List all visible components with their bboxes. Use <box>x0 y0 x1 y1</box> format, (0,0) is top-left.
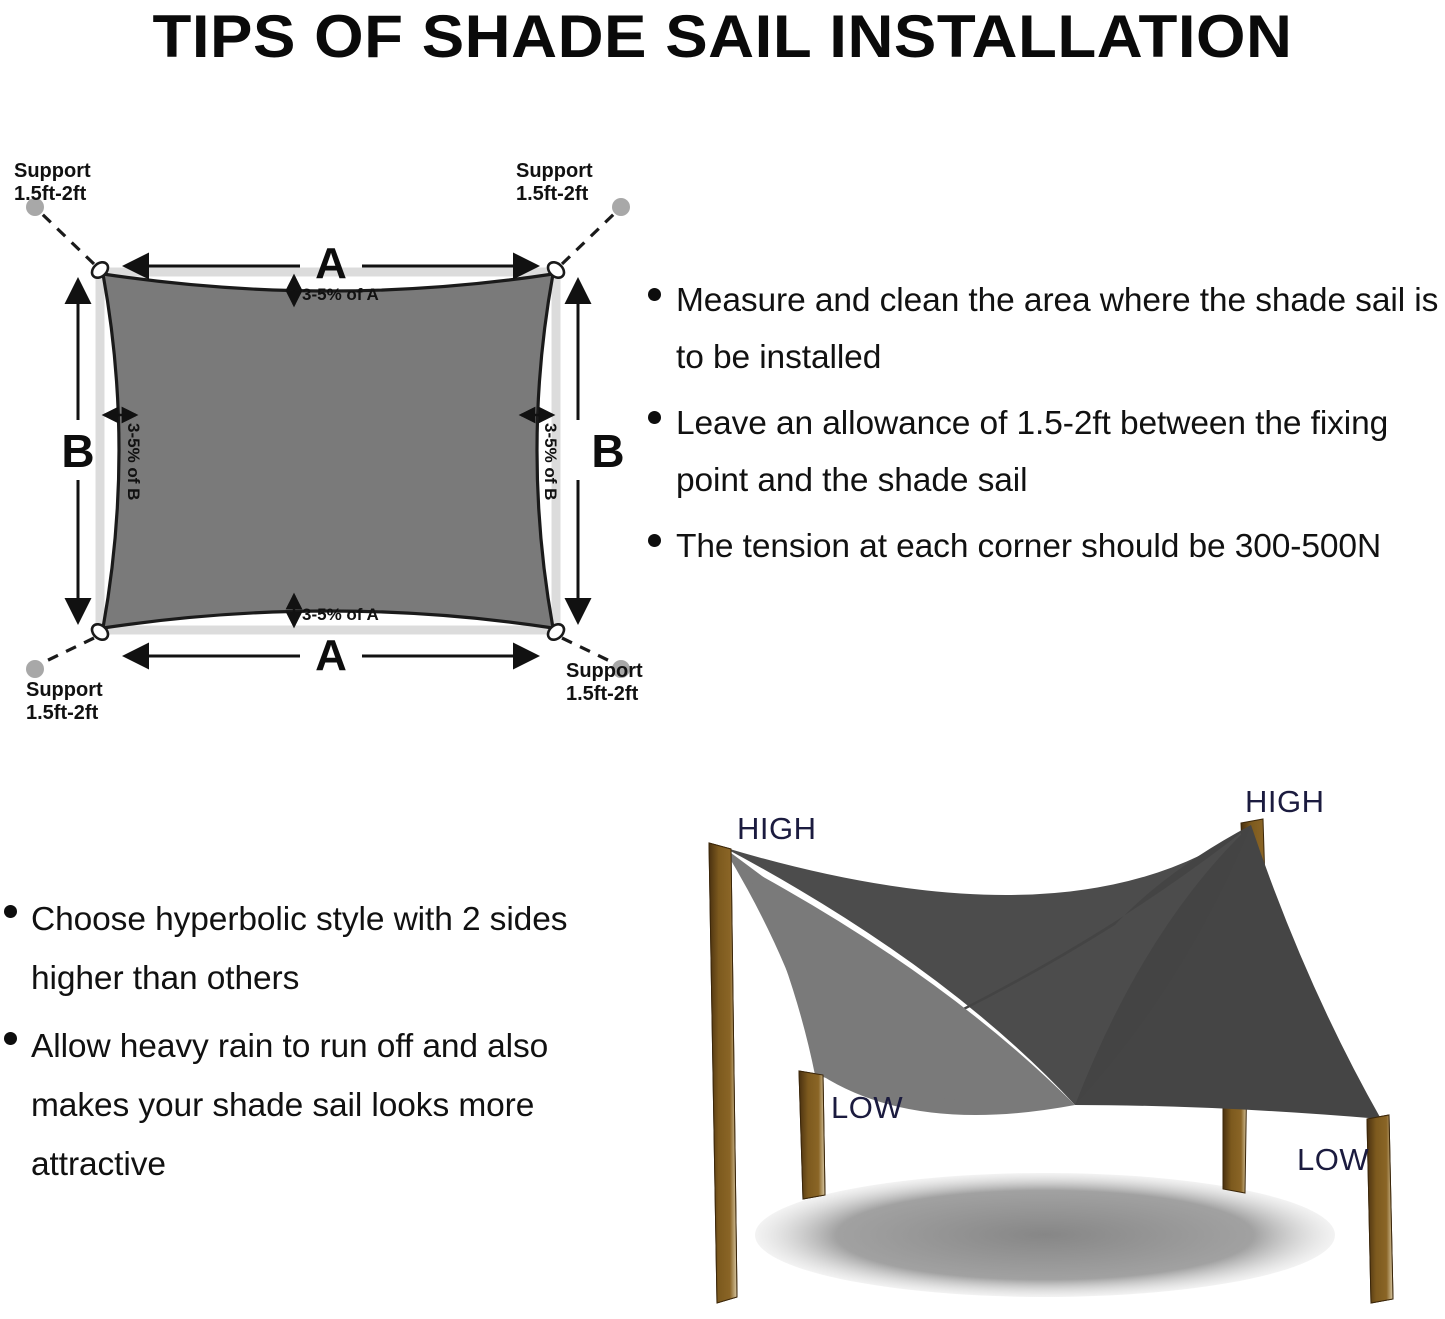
bullet-point-icon <box>648 288 661 301</box>
hyperbolic-sail-illustration: HIGH HIGH LOW LOW <box>645 775 1445 1319</box>
style-tip-text: Choose hyperbolic style with 2 sides hig… <box>31 890 624 1008</box>
page-title: TIPS OF SHADE SAIL INSTALLATION <box>0 2 1445 71</box>
label-low-right: LOW <box>1297 1142 1369 1178</box>
hyperbolic-style-tips-list: Choose hyperbolic style with 2 sides hig… <box>4 890 624 1203</box>
rectangular-sail-diagram: Support 1.5ft-2ft Support 1.5ft-2ft Supp… <box>0 150 660 750</box>
tip-item: The tension at each corner should be 300… <box>648 518 1445 575</box>
dimension-label-b-left: B <box>61 425 94 477</box>
label-high-left: HIGH <box>737 811 817 847</box>
dimension-a-top: A <box>125 239 537 288</box>
dimension-a-bottom: A <box>125 631 537 680</box>
tip-text: Leave an allowance of 1.5-2ft between th… <box>676 395 1445 509</box>
sail-body <box>103 274 553 628</box>
bullet-point-icon <box>4 905 17 918</box>
support-label-bottom-right-line2: 1.5ft-2ft <box>566 683 639 705</box>
dimension-label-b-right: B <box>591 425 624 477</box>
bullet-point-icon <box>4 1032 17 1045</box>
curve-label-bottom: 3-5% of A <box>302 605 379 624</box>
tip-text: The tension at each corner should be 300… <box>676 518 1381 575</box>
dimension-label-a-top: A <box>315 239 347 288</box>
tip-item: Leave an allowance of 1.5-2ft between th… <box>648 395 1445 509</box>
support-label-top-left-line1: Support <box>14 160 91 182</box>
style-tip-item: Allow heavy rain to run off and also mak… <box>4 1017 624 1194</box>
tip-item: Measure and clean the area where the sha… <box>648 272 1445 386</box>
support-label-top-right-line2: 1.5ft-2ft <box>516 183 589 205</box>
installation-tips-list: Measure and clean the area where the sha… <box>648 272 1445 584</box>
label-high-right: HIGH <box>1245 784 1325 820</box>
support-label-bottom-left-line2: 1.5ft-2ft <box>26 702 99 724</box>
dimension-b-right: B <box>578 280 625 622</box>
support-label-top-right-line1: Support <box>516 160 593 182</box>
support-label-bottom-right-line1: Support <box>566 660 643 682</box>
ground-shadow <box>755 1173 1335 1297</box>
bullet-point-icon <box>648 411 661 424</box>
dimension-label-a-bottom: A <box>315 631 347 680</box>
curve-label-left: 3-5% of B <box>124 423 143 500</box>
bullet-point-icon <box>648 534 661 547</box>
style-tip-item: Choose hyperbolic style with 2 sides hig… <box>4 890 624 1008</box>
curve-label-right: 3-5% of B <box>541 423 560 500</box>
curve-label-top: 3-5% of A <box>302 285 379 304</box>
tip-text: Measure and clean the area where the sha… <box>676 272 1445 386</box>
dimension-b-left: B <box>61 280 94 622</box>
support-label-bottom-left-line1: Support <box>26 679 103 701</box>
infographic-page: TIPS OF SHADE SAIL INSTALLATION <box>0 0 1445 1319</box>
style-tip-text: Allow heavy rain to run off and also mak… <box>31 1017 624 1194</box>
support-label-top-left-line2: 1.5ft-2ft <box>14 183 87 205</box>
label-low-left: LOW <box>831 1090 903 1126</box>
